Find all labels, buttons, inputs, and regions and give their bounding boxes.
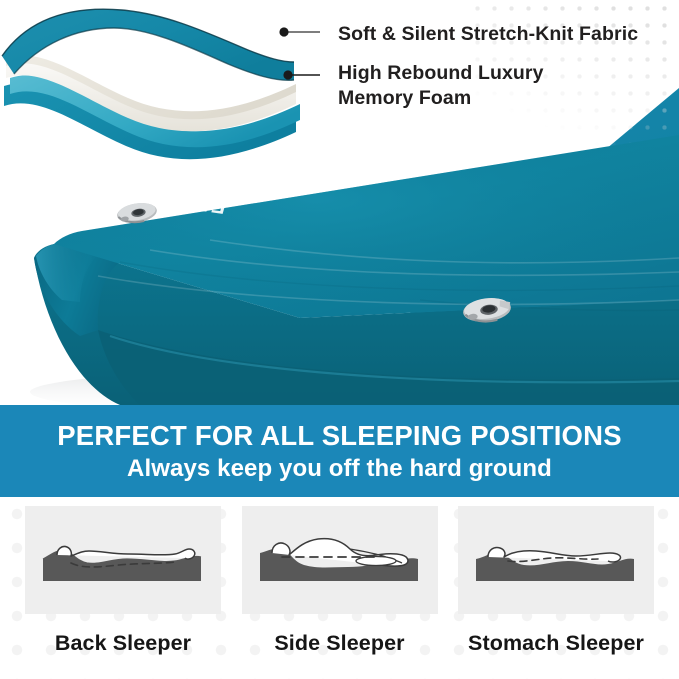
- side-sleeper-label: Side Sleeper: [274, 631, 404, 656]
- callout-leader-lines: [279, 27, 320, 79]
- banner-title: PERFECT FOR ALL SLEEPING POSITIONS: [57, 419, 622, 452]
- foam-layers-diagram: [0, 0, 320, 165]
- card-side-sleeper[interactable]: Side Sleeper: [242, 506, 438, 679]
- back-sleeper-icon: [35, 523, 211, 597]
- stomach-sleeper-label: Stomach Sleeper: [468, 631, 644, 656]
- back-sleeper-label: Back Sleeper: [55, 631, 191, 656]
- sleeping-positions-section: Back Sleeper Side Sleeper: [0, 497, 679, 679]
- card-stomach-sleeper[interactable]: Stomach Sleeper: [458, 506, 654, 679]
- callout-label-fabric: Soft & Silent Stretch-Knit Fabric: [338, 22, 638, 47]
- card-back-sleeper[interactable]: Back Sleeper: [25, 506, 221, 679]
- callout-dot-fabric: [279, 27, 288, 36]
- stomach-sleeper-card: [458, 506, 654, 614]
- side-sleeper-card: [242, 506, 438, 614]
- infographic-stage: ELZREOLI: [0, 0, 679, 679]
- callout-dot-foam: [283, 70, 292, 79]
- headline-banner: PERFECT FOR ALL SLEEPING POSITIONS Alway…: [0, 405, 679, 497]
- side-sleeper-icon: [252, 523, 428, 597]
- sleeping-position-cards: Back Sleeper Side Sleeper: [0, 497, 679, 679]
- back-sleeper-card: [25, 506, 221, 614]
- banner-subtitle: Always keep you off the hard ground: [127, 454, 552, 484]
- callout-label-foam: High Rebound Luxury Memory Foam: [338, 61, 544, 111]
- stomach-sleeper-icon: [468, 523, 644, 597]
- product-hero-section: ELZREOLI: [0, 0, 679, 405]
